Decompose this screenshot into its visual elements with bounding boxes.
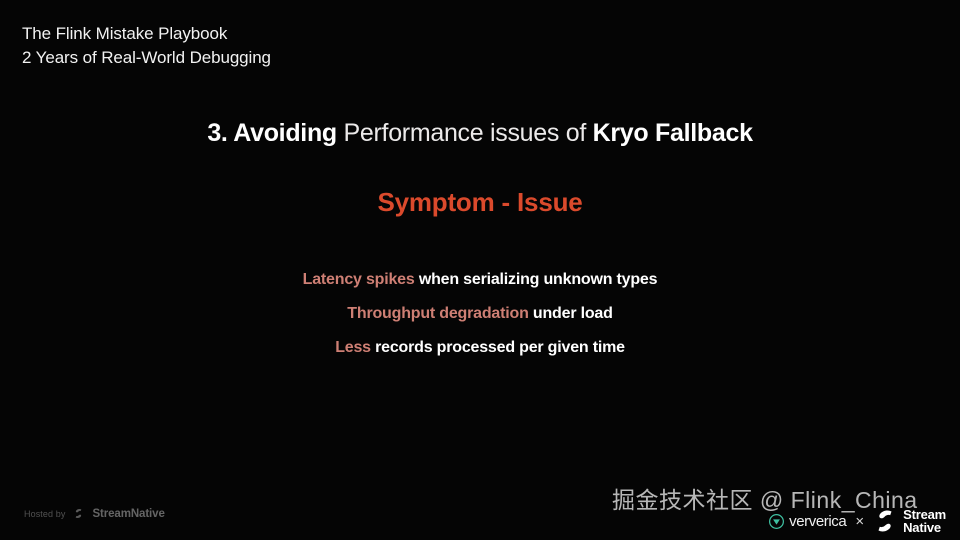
deck-header-line-1: The Flink Mistake Playbook xyxy=(22,22,271,46)
symptom-list: Latency spikes when serializing unknown … xyxy=(0,263,960,365)
deck-header-line-2: 2 Years of Real-World Debugging xyxy=(22,46,271,70)
symptom-item-3-rest: records processed per given time xyxy=(375,339,625,356)
symptom-item-1-rest: when serializing unknown types xyxy=(419,271,658,288)
presentation-slide: The Flink Mistake Playbook 2 Years of Re… xyxy=(0,0,960,540)
symptom-item-3: Less records processed per given time xyxy=(0,331,960,365)
section-title-part-3: Kryo Fallback xyxy=(593,119,753,147)
ververica-brand-label: ververica xyxy=(789,513,846,530)
symptom-issue-heading: Symptom - Issue xyxy=(0,186,960,218)
lockup-separator-icon: × xyxy=(855,514,864,529)
streamnative-brand: Stream Native xyxy=(873,508,946,534)
symptom-item-2: Throughput degradation under load xyxy=(0,297,960,331)
streamnative-logo-icon xyxy=(873,508,897,534)
symptom-item-2-accent: Throughput degradation xyxy=(347,305,528,322)
ververica-brand: ververica xyxy=(769,513,846,530)
symptom-item-2-rest: under load xyxy=(533,305,613,322)
streamnative-brand-label: Stream Native xyxy=(903,508,946,534)
section-title-spacer-2 xyxy=(586,119,593,147)
partner-lockup: ververica × Stream Native xyxy=(769,508,946,534)
section-title-spacer-1 xyxy=(337,119,344,147)
section-title-part-1: 3. Avoiding xyxy=(207,119,337,147)
symptom-item-1-accent: Latency spikes xyxy=(303,271,415,288)
ververica-logo-icon xyxy=(769,514,784,529)
hosted-by-brand: StreamNative xyxy=(92,508,164,520)
symptom-item-1: Latency spikes when serializing unknown … xyxy=(0,263,960,297)
hosted-by-label: Hosted by xyxy=(24,509,65,519)
hosted-by-footer: Hosted by StreamNative xyxy=(24,507,165,520)
symptom-item-3-accent: Less xyxy=(335,339,371,356)
streamnative-brand-line-2: Native xyxy=(903,521,946,534)
deck-header: The Flink Mistake Playbook 2 Years of Re… xyxy=(22,22,271,70)
streamnative-logo-icon xyxy=(72,507,85,520)
section-title-part-2: Performance issues of xyxy=(344,119,586,147)
section-title: 3. Avoiding Performance issues of Kryo F… xyxy=(0,117,960,149)
